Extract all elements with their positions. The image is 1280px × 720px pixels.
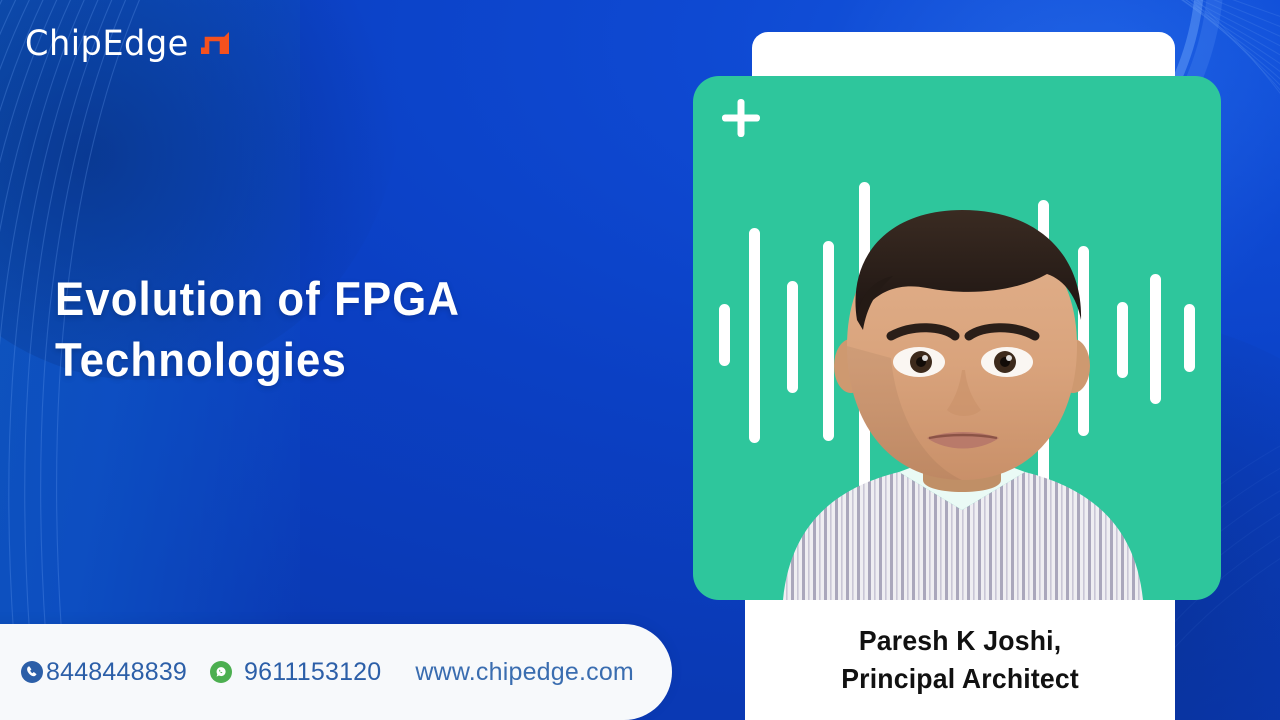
contact-group: 8448448839 9611153120 www.chipedge.com — [20, 658, 634, 687]
chipedge-arrow-mark-icon — [200, 30, 230, 60]
phone-number: 8448448839 — [46, 658, 187, 687]
contact-whatsapp[interactable]: 9611153120 — [209, 658, 381, 687]
speaker-name-card: Paresh K Joshi, Principal Architect — [745, 600, 1175, 720]
brand-logo-text: ChipEdge — [25, 27, 189, 62]
contact-bar: 8448448839 9611153120 www.chipedge.com — [0, 624, 672, 720]
whatsapp-number: 9611153120 — [244, 658, 381, 687]
brand-logo[interactable]: ChipEdge — [25, 16, 230, 62]
speaker-name: Paresh K Joshi, Principal Architect — [841, 622, 1079, 698]
page-title: Evolution of FPGA Technologies — [55, 268, 613, 390]
slide-canvas: ChipEdge Evolution of FPGA Technologies — [0, 0, 1280, 720]
phone-icon — [20, 660, 44, 684]
speaker-portrait — [747, 180, 1177, 600]
whatsapp-icon — [209, 660, 233, 684]
contact-website[interactable]: www.chipedge.com — [415, 658, 634, 687]
website-url: www.chipedge.com — [415, 658, 634, 687]
contact-phone[interactable]: 8448448839 — [20, 658, 187, 687]
